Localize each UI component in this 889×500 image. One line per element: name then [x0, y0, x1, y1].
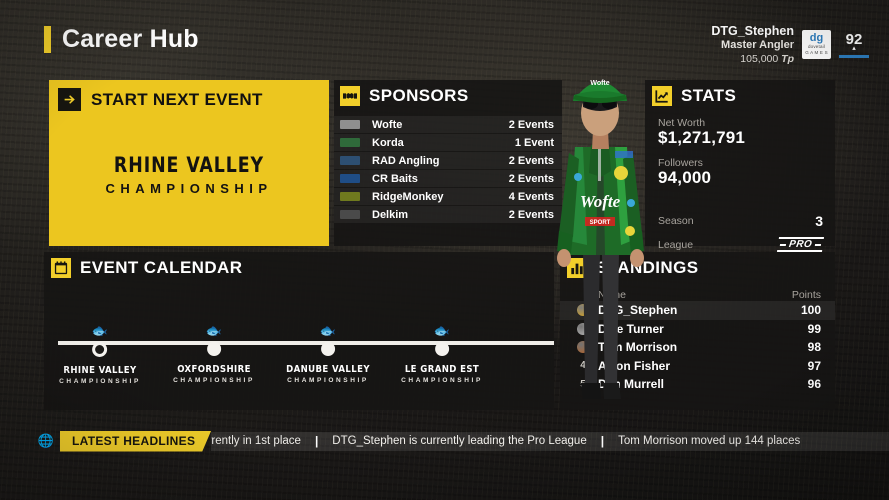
calendar-event-subtitle: CHAMPIONSHIP: [401, 377, 483, 384]
headline-item: Tom Morrison moved up 144 places: [604, 435, 814, 447]
followers-value: 94,000: [658, 168, 823, 188]
calendar-icon: [51, 258, 71, 278]
standings-header: STANDINGS: [560, 252, 835, 278]
start-next-event-body: RHINE VALLEY CHAMPIONSHIP: [49, 153, 329, 196]
start-next-event-label: START NEXT EVENT: [91, 90, 263, 110]
season-value: 3: [815, 213, 823, 229]
sponsors-header: SPONSORS: [334, 80, 562, 106]
sponsors-title: SPONSORS: [369, 86, 469, 106]
headlines-feed: DTG_Stephen is currently in 1st place|DT…: [211, 432, 889, 451]
medal-gold-icon: [577, 304, 589, 316]
calendar-timeline: 🐟RHINE VALLEYCHAMPIONSHIP🐟OXFORDSHIRECHA…: [44, 324, 554, 384]
calendar-node-dot: [321, 342, 335, 356]
page-title: Career Hub: [62, 25, 199, 54]
standings-list: DTG_Stephen100Dale Turner99Tom Morrison9…: [560, 301, 835, 394]
sponsor-events: 4 Events: [509, 191, 554, 203]
standings-row[interactable]: Dale Turner99: [560, 320, 835, 339]
calendar-event-subtitle: CHAMPIONSHIP: [59, 378, 141, 385]
stats-title: STATS: [681, 86, 736, 106]
stats-header: STATS: [645, 80, 835, 106]
sponsor-logo-icon: [340, 156, 360, 165]
player-points-value: 105,000: [740, 53, 778, 65]
sponsor-logo-icon: [340, 138, 360, 147]
standings-panel[interactable]: STANDINGS Name Points DTG_Stephen100Dale…: [560, 252, 835, 410]
standings-position-cell: [570, 341, 596, 353]
event-calendar-panel[interactable]: EVENT CALENDAR 🐟RHINE VALLEYCHAMPIONSHIP…: [44, 252, 554, 410]
standings-row[interactable]: DTG_Stephen100: [560, 301, 835, 320]
standings-player-points: 98: [808, 340, 821, 354]
player-rank-title: Master Angler: [711, 39, 794, 52]
standings-player-points: 100: [801, 303, 821, 317]
header-accent-bar: [44, 26, 51, 53]
calendar-node-dot: [92, 342, 107, 357]
stats-body: Net Worth $1,271,791 Followers 94,000 Se…: [645, 106, 835, 252]
sponsor-events: 2 Events: [509, 155, 554, 167]
sponsor-name: Delkim: [372, 209, 509, 221]
sponsors-panel[interactable]: SPONSORS Wofte2 EventsKorda1 EventRAD An…: [334, 80, 562, 246]
dovetail-logo-subtext: G A M E S: [805, 50, 828, 56]
calendar-event-label: LE GRAND ESTCHAMPIONSHIP: [401, 364, 483, 384]
standings-player-points: 99: [808, 322, 821, 336]
calendar-event-label: RHINE VALLEYCHAMPIONSHIP: [59, 365, 141, 385]
calendar-event-name: OXFORDSHIRE: [173, 364, 255, 375]
standings-player-points: 97: [808, 359, 821, 373]
calendar-event-name: LE GRAND EST: [401, 364, 483, 375]
standings-position-cell: 5: [570, 379, 596, 390]
calendar-node-dot: [207, 342, 221, 356]
standings-position-cell: 4: [570, 360, 596, 371]
sponsor-name: CR Baits: [372, 173, 509, 185]
calendar-event-node[interactable]: 🐟OXFORDSHIRECHAMPIONSHIP: [173, 324, 255, 384]
medal-silver-icon: [577, 323, 589, 335]
stats-panel[interactable]: STATS Net Worth $1,271,791 Followers 94,…: [645, 80, 835, 246]
calendar-event-label: OXFORDSHIRECHAMPIONSHIP: [173, 364, 255, 384]
player-info: DTG_Stephen Master Angler 105,000 Tp dg …: [711, 24, 869, 65]
fish-icon: 🐟: [401, 324, 483, 337]
calendar-event-label: DANUBE VALLEYCHAMPIONSHIP: [286, 364, 370, 384]
sponsor-events: 1 Event: [515, 137, 554, 149]
fish-icon: 🐟: [286, 324, 370, 337]
standings-player-name: DTG_Stephen: [598, 303, 801, 317]
standings-row[interactable]: 4Arron Fisher97: [560, 357, 835, 376]
sponsor-row[interactable]: Wofte2 Events: [334, 116, 562, 133]
next-event-name: RHINE VALLEY: [60, 153, 318, 177]
sponsor-events: 2 Events: [509, 173, 554, 185]
player-name: DTG_Stephen: [711, 24, 794, 39]
player-level: 92 ▴: [839, 32, 869, 58]
start-next-event-button[interactable]: START NEXT EVENT RHINE VALLEY CHAMPIONSH…: [49, 80, 329, 246]
sponsor-logo-icon: [340, 174, 360, 183]
calendar-event-node[interactable]: 🐟LE GRAND ESTCHAMPIONSHIP: [401, 324, 483, 384]
sponsor-logo-icon: [340, 210, 360, 219]
next-event-subtitle: CHAMPIONSHIP: [49, 181, 329, 196]
sponsor-row[interactable]: Delkim2 Events: [334, 206, 562, 223]
sponsor-name: RidgeMonkey: [372, 191, 509, 203]
page-header: Career Hub: [44, 25, 199, 54]
sponsor-row[interactable]: RidgeMonkey4 Events: [334, 188, 562, 205]
season-row: Season 3: [658, 213, 823, 229]
standings-col-name: Name: [598, 289, 792, 301]
dovetail-logo: dg dovetail G A M E S: [802, 30, 831, 59]
league-row: League PRO: [658, 237, 823, 252]
league-value: PRO: [788, 239, 813, 250]
headlines-label: LATEST HEADLINES: [60, 431, 211, 452]
league-badge: PRO: [777, 237, 824, 252]
standings-position: 5: [580, 379, 586, 390]
sponsor-row[interactable]: Korda1 Event: [334, 134, 562, 151]
chart-icon: [652, 86, 672, 106]
headline-item: DTG_Stephen is currently leading the Pro…: [318, 435, 600, 447]
fish-icon: 🐟: [59, 324, 141, 337]
standings-player-name: Arron Fisher: [598, 359, 808, 373]
standings-row[interactable]: Tom Morrison98: [560, 338, 835, 357]
league-badge-dash-left: [780, 244, 786, 246]
dovetail-logo-mark: dg: [810, 33, 823, 44]
globe-icon: 🌐: [36, 433, 56, 449]
calendar-header: EVENT CALENDAR: [44, 252, 554, 278]
league-badge-dash-right: [815, 244, 821, 246]
sponsor-events: 2 Events: [509, 119, 554, 131]
calendar-event-subtitle: CHAMPIONSHIP: [173, 377, 255, 384]
calendar-event-name: DANUBE VALLEY: [286, 364, 370, 375]
sponsor-logo-icon: [340, 192, 360, 201]
standings-column-headers: Name Points: [598, 289, 821, 301]
sponsors-list: Wofte2 EventsKorda1 EventRAD Angling2 Ev…: [334, 116, 562, 223]
net-worth-value: $1,271,791: [658, 128, 823, 148]
player-points: 105,000 Tp: [711, 53, 794, 66]
sponsor-events: 2 Events: [509, 209, 554, 221]
level-progress-bar: [839, 55, 869, 58]
medal-bronze-icon: [577, 341, 589, 353]
player-points-unit: Tp: [781, 53, 794, 65]
handshake-icon: [340, 86, 360, 106]
sponsor-logo-icon: [340, 120, 360, 129]
headlines-ticker[interactable]: 🌐 LATEST HEADLINES DTG_Stephen is curren…: [36, 430, 889, 452]
standings-player-name: Dale Turner: [598, 322, 808, 336]
standings-position-cell: [570, 304, 596, 316]
standings-col-points: Points: [792, 289, 821, 301]
standings-row[interactable]: 5Dan Murrell96: [560, 375, 835, 394]
league-label: League: [658, 239, 693, 251]
sponsor-name: Korda: [372, 137, 515, 149]
standings-player-name: Dan Murrell: [598, 377, 808, 391]
player-text: DTG_Stephen Master Angler 105,000 Tp: [711, 24, 794, 65]
standings-position: 4: [580, 360, 586, 371]
season-label: Season: [658, 215, 694, 227]
standings-position-cell: [570, 323, 596, 335]
calendar-title: EVENT CALENDAR: [80, 258, 242, 278]
headlines-feed-items: DTG_Stephen is currently in 1st place|DT…: [211, 434, 814, 448]
level-tick-icon: ▴: [839, 47, 869, 51]
calendar-event-name: RHINE VALLEY: [59, 365, 141, 376]
sponsor-name: Wofte: [372, 119, 509, 131]
standings-player-name: Tom Morrison: [598, 340, 808, 354]
headline-item: DTG_Stephen is currently in 1st place: [211, 435, 315, 447]
sponsor-name: RAD Angling: [372, 155, 509, 167]
bar-chart-icon: [567, 258, 587, 278]
start-next-event-header: START NEXT EVENT: [49, 80, 329, 111]
calendar-event-subtitle: CHAMPIONSHIP: [286, 377, 370, 384]
sponsor-row[interactable]: CR Baits2 Events: [334, 170, 562, 187]
calendar-node-dot: [435, 342, 449, 356]
calendar-event-node[interactable]: 🐟DANUBE VALLEYCHAMPIONSHIP: [286, 324, 370, 384]
standings-title: STANDINGS: [596, 258, 698, 278]
arrow-right-icon: [58, 88, 81, 111]
calendar-event-node[interactable]: 🐟RHINE VALLEYCHAMPIONSHIP: [59, 324, 141, 385]
sponsor-row[interactable]: RAD Angling2 Events: [334, 152, 562, 169]
fish-icon: 🐟: [173, 324, 255, 337]
standings-player-points: 96: [808, 377, 821, 391]
